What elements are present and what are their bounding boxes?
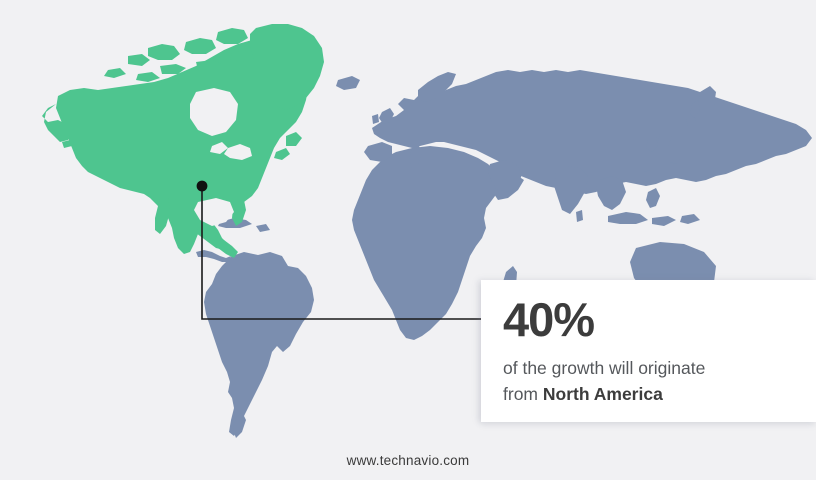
growth-percent-value: 40% [503, 296, 794, 343]
callout-panel: 40% of the growth will originate from No… [481, 280, 816, 422]
callout-line-1: of the growth will originate [503, 355, 794, 381]
infographic-canvas: 40% of the growth will originate from No… [0, 0, 816, 480]
region-name: North America [543, 384, 663, 404]
source-url: www.technavio.com [347, 453, 470, 468]
footer: www.technavio.com [0, 440, 816, 480]
callout-line-2: from North America [503, 381, 794, 407]
callout-line-2-prefix: from [503, 384, 543, 404]
